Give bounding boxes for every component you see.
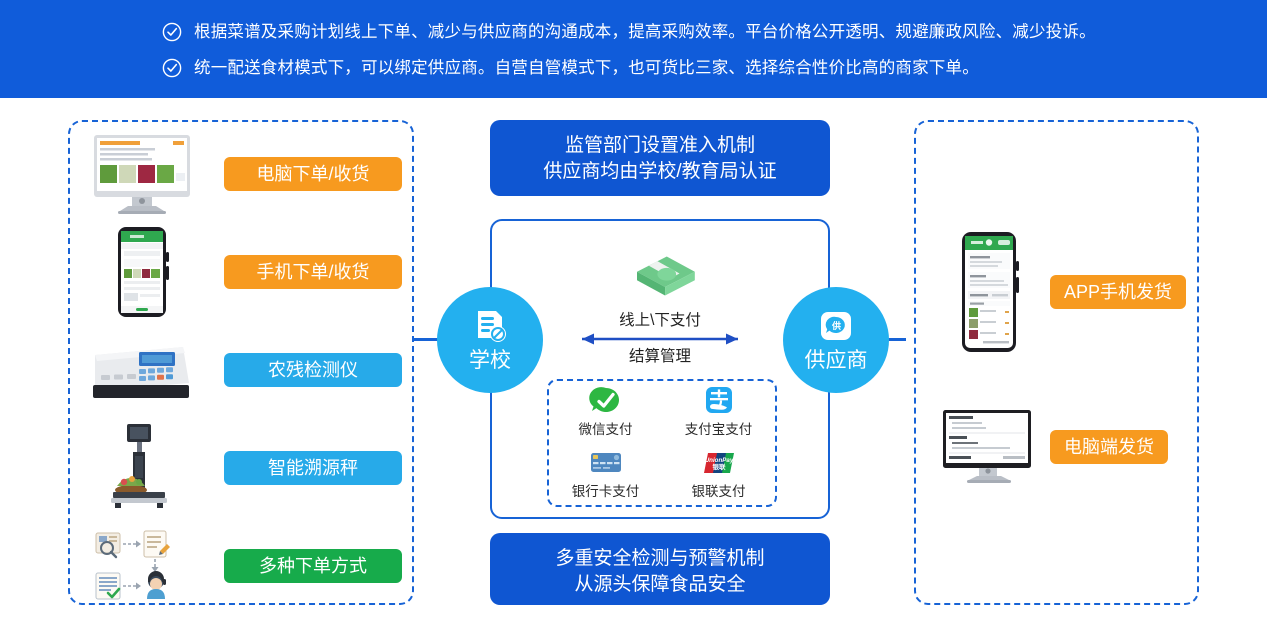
safety-banner-line-1: 多重安全检测与预警机制 (490, 546, 830, 572)
flow-label-bottom: 结算管理 (492, 347, 828, 367)
device-label-pill: APP手机发货 (1050, 275, 1186, 309)
list-item: 电脑下单/收货 (70, 128, 412, 220)
order-methods-icon (82, 520, 202, 612)
list-item: 智能溯源秤 (70, 422, 412, 514)
top-banner: 根据菜谱及采购计划线上下单、减少与供应商的沟通成本，提高采购效率。平台价格公开透… (0, 0, 1267, 98)
check-circle-icon (162, 58, 182, 78)
list-item: 电脑端发货 (916, 392, 1197, 502)
double-headed-arrow-icon (570, 332, 750, 346)
banner-bullet-row: 根据菜谱及采购计划线上下单、减少与供应商的沟通成本，提高采购效率。平台价格公开透… (162, 21, 1096, 43)
desktop-monitor-icon (934, 392, 1044, 502)
svg-text:供: 供 (831, 320, 841, 331)
supplier-chat-icon: 供 (816, 308, 856, 348)
payment-method-label: 支付宝支付 (685, 418, 753, 438)
device-label-pill: 农残检测仪 (224, 353, 402, 387)
right-supplier-devices-panel: APP手机发货 电脑端发货 (914, 120, 1199, 605)
flow-label-top: 线上\下支付 (492, 311, 828, 331)
banner-text: 统一配送食材模式下，可以绑定供应商。自营自管模式下，也可货比三家、选择综合性价比… (194, 57, 979, 79)
payment-method-unionpay[interactable]: UnionPay 银联 银联支付 (692, 448, 746, 500)
smart-scale-icon (82, 422, 202, 514)
list-item: APP手机发货 (916, 222, 1197, 362)
device-label-pill: 手机下单/收货 (224, 255, 402, 289)
payment-method-alipay[interactable]: 支付宝支付 (685, 386, 753, 438)
bank-card-icon (589, 448, 623, 478)
node-supplier-label: 供应商 (805, 349, 868, 373)
payment-method-label: 微信支付 (579, 418, 633, 438)
payment-method-label: 银联支付 (692, 480, 746, 500)
node-school-label: 学校 (469, 349, 511, 373)
check-circle-icon (162, 22, 182, 42)
payment-settlement-box: 线上\下支付 结算管理 微信支付 支付宝支付 (490, 219, 830, 519)
device-label-pill: 智能溯源秤 (224, 451, 402, 485)
node-supplier[interactable]: 供 供应商 (783, 287, 889, 393)
list-item: 手机下单/收货 (70, 226, 412, 318)
banner-text: 根据菜谱及采购计划线上下单、减少与供应商的沟通成本，提高采购效率。平台价格公开透… (194, 21, 1096, 43)
pesticide-detector-icon (82, 324, 202, 416)
alipay-icon (702, 386, 736, 416)
device-label-pill: 电脑端发货 (1050, 430, 1168, 464)
list-item: 农残检测仪 (70, 324, 412, 416)
regulator-banner: 监管部门设置准入机制 供应商均由学校/教育局认证 (490, 120, 830, 196)
svg-text:UnionPay: UnionPay (704, 457, 733, 464)
device-label-pill: 电脑下单/收货 (224, 157, 402, 191)
document-edit-icon (470, 308, 510, 348)
payment-method-bank-card[interactable]: 银行卡支付 (572, 448, 640, 500)
payment-method-wechat[interactable]: 微信支付 (579, 386, 633, 438)
payment-method-label: 银行卡支付 (572, 480, 640, 500)
safety-banner: 多重安全检测与预警机制 从源头保障食品安全 (490, 533, 830, 605)
safety-banner-line-2: 从源头保障食品安全 (490, 572, 830, 598)
payment-methods-box: 微信支付 支付宝支付 (547, 379, 777, 507)
wechat-pay-icon (589, 386, 623, 416)
cash-stack-icon (620, 246, 705, 306)
unionpay-icon: UnionPay 银联 (702, 448, 736, 478)
left-school-devices-panel: 电脑下单/收货 (68, 120, 414, 605)
banner-bullet-row: 统一配送食材模式下，可以绑定供应商。自营自管模式下，也可货比三家、选择综合性价比… (162, 57, 979, 79)
device-label-pill: 多种下单方式 (224, 549, 402, 583)
regulator-banner-line-2: 供应商均由学校/教育局认证 (490, 159, 830, 185)
smartphone-icon (934, 222, 1044, 362)
node-school[interactable]: 学校 (437, 287, 543, 393)
smartphone-icon (82, 226, 202, 318)
svg-text:银联: 银联 (712, 462, 726, 471)
desktop-monitor-icon (82, 128, 202, 220)
regulator-banner-line-1: 监管部门设置准入机制 (490, 133, 830, 159)
list-item: 多种下单方式 (70, 520, 412, 612)
